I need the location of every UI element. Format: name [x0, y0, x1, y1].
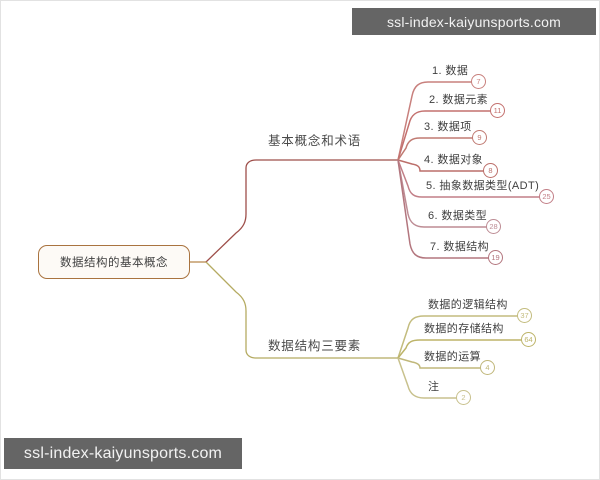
leaf-label: 注: [428, 378, 439, 394]
leaf-badge: 64: [521, 332, 536, 347]
watermark-bottom: ssl-index-kaiyunsports.com: [4, 438, 242, 469]
leaf-badge: 8: [483, 163, 498, 178]
leaf-badge: 19: [488, 250, 503, 265]
leaf-badge: 7: [471, 74, 486, 89]
leaf-label: 数据的运算: [424, 348, 481, 364]
leaf-label: 4. 数据对象: [424, 151, 483, 167]
leaf-label: 2. 数据元素: [429, 91, 488, 107]
leaf-badge: 37: [517, 308, 532, 323]
leaf-label: 数据的存储结构: [424, 320, 504, 336]
leaf-label: 7. 数据结构: [430, 238, 489, 254]
leaf-badge: 25: [539, 189, 554, 204]
mindmap-board-border: [0, 0, 600, 480]
root-node-label: 数据结构的基本概念: [60, 254, 168, 270]
leaf-label: 3. 数据项: [424, 118, 472, 134]
leaf-label: 6. 数据类型: [428, 207, 487, 223]
branch-title-basic-concepts[interactable]: 基本概念和术语: [268, 130, 361, 149]
leaf-label: 1. 数据: [432, 62, 468, 78]
leaf-badge: 2: [456, 390, 471, 405]
branch-title-three-elements[interactable]: 数据结构三要素: [268, 335, 361, 354]
watermark-top: ssl-index-kaiyunsports.com: [352, 8, 596, 35]
leaf-badge: 4: [480, 360, 495, 375]
mindmap-canvas: 数据结构的基本概念 基本概念和术语 数据结构三要素 1. 数据 7 2. 数据元…: [0, 0, 600, 480]
mindmap-root-node[interactable]: 数据结构的基本概念: [38, 245, 190, 279]
leaf-badge: 11: [490, 103, 505, 118]
leaf-label: 5. 抽象数据类型(ADT): [426, 177, 539, 193]
leaf-label: 数据的逻辑结构: [428, 296, 508, 312]
leaf-badge: 9: [472, 130, 487, 145]
leaf-badge: 28: [486, 219, 501, 234]
